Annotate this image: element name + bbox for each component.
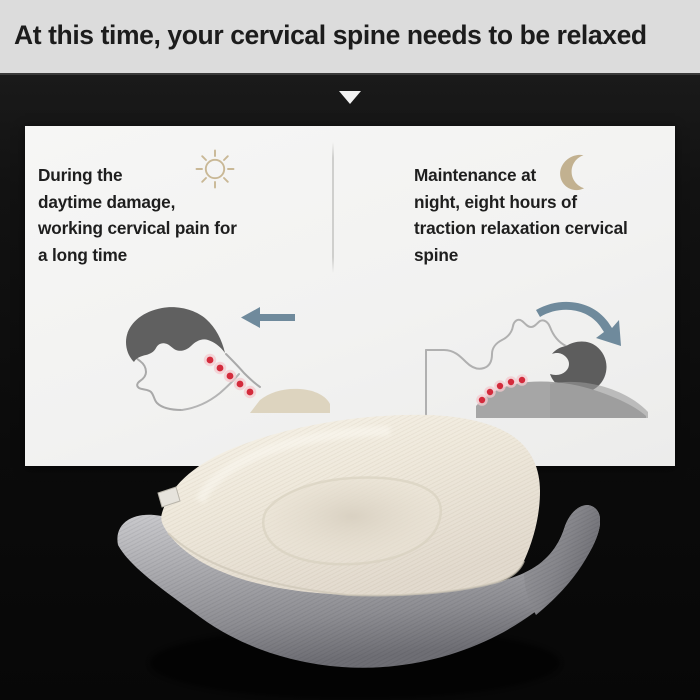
cervical-contour-pillow <box>100 405 600 700</box>
arrow-left-icon <box>241 307 295 328</box>
header-band: At this time, your cervical spine needs … <box>0 0 700 75</box>
daytime-description: During the daytime damage, working cervi… <box>38 162 338 268</box>
product-infographic-screenshot: At this time, your cervical spine needs … <box>0 0 700 700</box>
panel-divider <box>332 142 334 273</box>
reclining-head-on-pillow-icon <box>400 288 655 418</box>
moon-icon <box>556 152 596 192</box>
night-description: Maintenance at night, eight hours of tra… <box>414 162 675 268</box>
triangle-down-icon <box>339 91 361 104</box>
sun-icon <box>192 146 238 192</box>
upright-head-neck-pain-icon <box>110 288 330 413</box>
page-title: At this time, your cervical spine needs … <box>14 18 690 52</box>
